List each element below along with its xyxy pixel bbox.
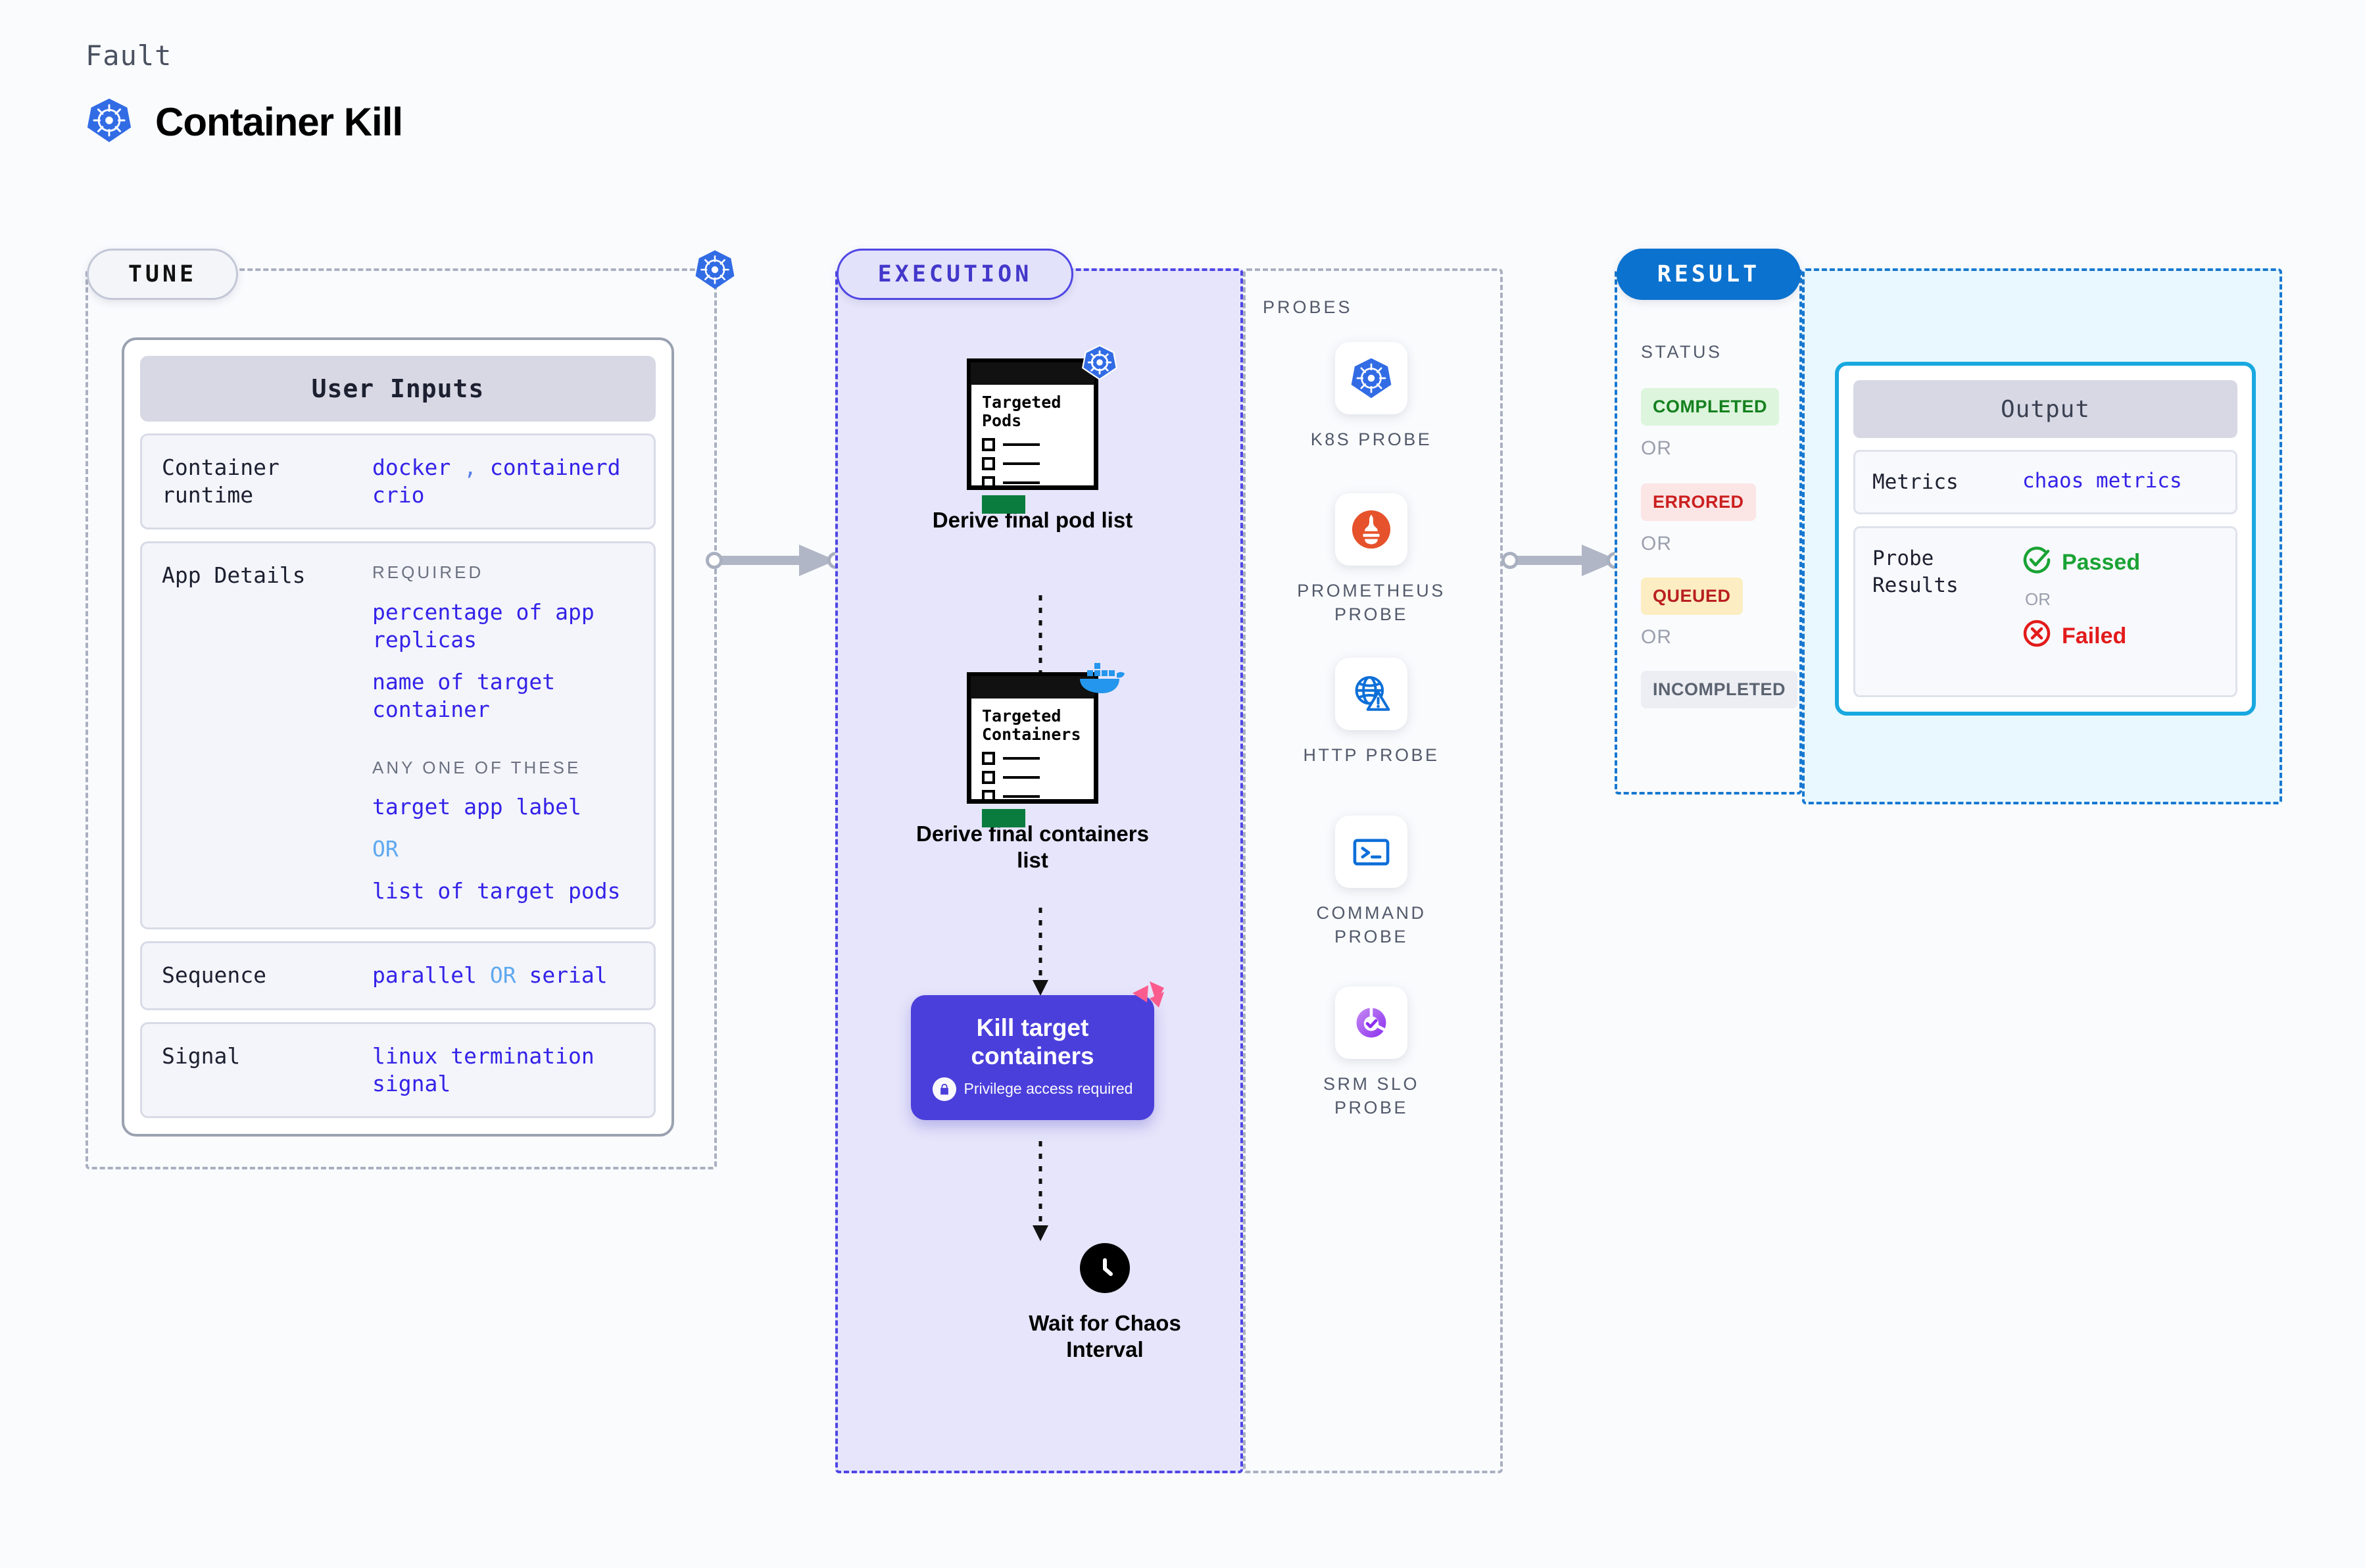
probe-item-http[interactable]: HTTP PROBE xyxy=(1273,658,1470,767)
exec-node-label-wait: Wait for ChaosInterval xyxy=(987,1310,1223,1362)
probe-label-k8s: K8S PROBE xyxy=(1273,428,1470,451)
output-card: Output Metrics chaos metrics ProbeResult… xyxy=(1835,362,2256,716)
row-values-sequence: parallel OR serial xyxy=(372,962,634,989)
status-or-2: OR xyxy=(1641,533,1672,555)
user-inputs-card: User Inputs Containerruntime docker , co… xyxy=(122,337,674,1137)
green-bar xyxy=(982,495,1025,514)
anyone-caption: ANY ONE OF THESE xyxy=(372,757,634,779)
targeted-pods-title: TargetedPods xyxy=(982,393,1085,430)
checkbox-icon xyxy=(982,457,995,470)
checkbox-icon xyxy=(982,752,995,765)
kubernetes-icon xyxy=(1335,342,1407,414)
output-row-probe-results: ProbeResults Passed OR xyxy=(1853,526,2237,697)
output-row-metrics: Metrics chaos metrics xyxy=(1853,450,2237,514)
status-badge-completed: COMPLETED xyxy=(1641,388,1779,426)
row-label-app-details: App Details xyxy=(162,562,359,909)
output-value-metrics: chaos metrics xyxy=(2022,469,2182,495)
fault-eyebrow: Fault xyxy=(85,39,402,72)
user-inputs-title: User Inputs xyxy=(140,356,656,422)
tune-row-sequence: Sequence parallel OR serial xyxy=(140,941,656,1010)
flow-arrow-2 xyxy=(1027,908,1054,1003)
exec-node-label-containers-list: Derive final containers list xyxy=(914,821,1151,873)
row-label-container-runtime: Containerruntime xyxy=(162,454,359,509)
checkbox-icon xyxy=(982,476,995,489)
output-label-probe-results: ProbeResults xyxy=(1872,545,2011,678)
status-title: STATUS xyxy=(1641,342,1722,362)
probe-label-srm-slo: SRM SLOPROBE xyxy=(1273,1072,1470,1120)
output-label-metrics: Metrics xyxy=(1872,469,2011,495)
anyone-value-target-pods: list of target pods xyxy=(372,877,634,905)
row-values-signal: linux terminationsignal xyxy=(372,1042,634,1098)
kubernetes-icon xyxy=(694,249,736,294)
connector-dot-left xyxy=(706,552,723,569)
probe-result-or: OR xyxy=(2025,589,2218,610)
privilege-note: Privilege access required xyxy=(933,1077,1133,1101)
x-circle-icon xyxy=(2022,619,2051,654)
kubernetes-icon xyxy=(85,97,133,147)
connector-dot-probes xyxy=(1501,552,1519,569)
exec-node-wait-for-chaos-interval: Wait for ChaosInterval xyxy=(987,1243,1223,1362)
probe-item-srm-slo[interactable]: SRM SLOPROBE xyxy=(1273,987,1470,1120)
status-badge-queued: QUEUED xyxy=(1641,577,1743,615)
probe-item-k8s[interactable]: K8S PROBE xyxy=(1273,342,1470,451)
http-globe-icon xyxy=(1335,658,1407,730)
kill-card-title: Kill targetcontainers xyxy=(971,1014,1094,1071)
checkbox-icon xyxy=(982,790,995,803)
passed-label: Passed xyxy=(2062,550,2140,576)
status-badge-incompleted: INCOMPLETED xyxy=(1641,671,1797,708)
status-or-1: OR xyxy=(1641,437,1672,460)
tune-row-container-runtime: Containerruntime docker , containerd cri… xyxy=(140,433,656,529)
targeted-pods-card: TargetedPods xyxy=(967,358,1098,490)
row-values-container-runtime: docker , containerd crio xyxy=(372,454,634,509)
tune-row-app-details: App Details REQUIRED percentage of app r… xyxy=(140,541,656,929)
status-badge-errored: ERRORED xyxy=(1641,483,1756,521)
litmus-icon xyxy=(1130,979,1168,1020)
check-circle-icon xyxy=(2022,545,2051,580)
exec-node-derive-pod-list: TargetedPods Derive final pod list xyxy=(914,358,1151,533)
srm-slo-icon xyxy=(1335,987,1407,1059)
page-title: Container Kill xyxy=(155,99,402,145)
checkbox-icon xyxy=(982,438,995,451)
prometheus-icon xyxy=(1335,493,1407,566)
status-or-3: OR xyxy=(1641,626,1672,649)
lock-icon xyxy=(933,1077,956,1101)
row-values-app-details: REQUIRED percentage of app replicas name… xyxy=(372,562,634,909)
execution-pill: EXECUTION xyxy=(837,249,1073,300)
probe-item-prometheus[interactable]: PROMETHEUSPROBE xyxy=(1273,493,1470,627)
anyone-or: OR xyxy=(372,835,634,863)
flow-arrow-3 xyxy=(1027,1141,1054,1250)
result-pill: RESULT xyxy=(1617,249,1801,300)
tune-pill: TUNE xyxy=(87,249,238,300)
probe-label-command: COMMANDPROBE xyxy=(1273,901,1470,949)
probe-label-prometheus: PROMETHEUSPROBE xyxy=(1273,579,1470,627)
kubernetes-icon xyxy=(1081,344,1118,384)
probe-result-failed: Failed xyxy=(2022,619,2218,654)
required-caption: REQUIRED xyxy=(372,562,634,583)
exec-node-derive-containers-list: TargetedContainers Derive final containe… xyxy=(914,672,1151,873)
anyone-value-app-label: target app label xyxy=(372,793,634,821)
green-bar xyxy=(982,809,1025,827)
docker-icon xyxy=(1077,659,1126,700)
required-value-replicas: percentage of app replicas xyxy=(372,599,634,654)
probe-result-passed: Passed xyxy=(2022,545,2218,580)
clock-icon xyxy=(1080,1243,1130,1293)
probes-title: PROBES xyxy=(1263,297,1353,318)
probe-label-http: HTTP PROBE xyxy=(1273,743,1470,767)
row-label-sequence: Sequence xyxy=(162,962,359,989)
privilege-text: Privilege access required xyxy=(964,1080,1133,1098)
exec-node-kill-target-containers: Kill targetcontainers Privilege access r… xyxy=(911,995,1154,1120)
tune-row-signal: Signal linux terminationsignal xyxy=(140,1022,656,1118)
terminal-icon xyxy=(1335,816,1407,888)
failed-label: Failed xyxy=(2062,624,2126,649)
targeted-containers-title: TargetedContainers xyxy=(982,707,1085,744)
probe-item-command[interactable]: COMMANDPROBE xyxy=(1273,816,1470,949)
checkbox-icon xyxy=(982,771,995,784)
row-label-signal: Signal xyxy=(162,1042,359,1098)
required-value-container: name of target container xyxy=(372,668,634,723)
page-header: Fault Container Kill xyxy=(85,39,402,147)
output-title: Output xyxy=(1853,380,2237,438)
